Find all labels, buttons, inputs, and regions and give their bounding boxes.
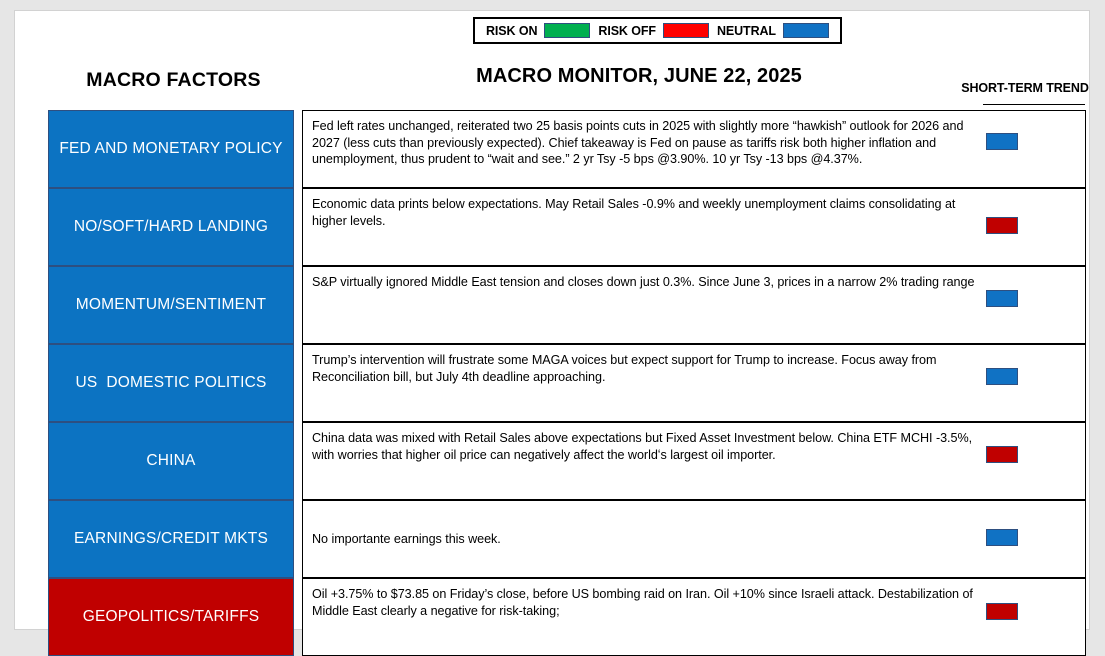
page-title: MACRO MONITOR, JUNE 22, 2025 — [303, 65, 975, 88]
factor-label-cell[interactable]: GEOPOLITICS/TARIFFS — [48, 578, 294, 656]
factor-label-cell[interactable]: CHINA — [48, 422, 294, 500]
macro-factors-heading: MACRO FACTORS — [51, 69, 296, 92]
short-term-trend-indicator[interactable] — [986, 446, 1018, 463]
factor-label-cell[interactable]: EARNINGS/CREDIT MKTS — [48, 500, 294, 578]
factor-label-cell[interactable]: FED AND MONETARY POLICY — [48, 110, 294, 188]
macro-factor-row: EARNINGS/CREDIT MKTSNo importante earnin… — [15, 500, 1089, 578]
risk-on-swatch — [544, 23, 590, 38]
factor-note-text: Oil +3.75% to $73.85 on Friday’s close, … — [312, 586, 984, 619]
short-term-trend-indicator[interactable] — [986, 529, 1018, 546]
factor-label-text: EARNINGS/CREDIT MKTS — [74, 530, 268, 548]
factor-note-text: Trump’s intervention will frustrate some… — [312, 352, 984, 385]
trend-heading-divider — [983, 104, 1085, 105]
factor-label-cell[interactable]: NO/SOFT/HARD LANDING — [48, 188, 294, 266]
factor-note-text: Economic data prints below expectations.… — [312, 196, 984, 229]
short-term-trend-heading: SHORT-TERM TREND — [945, 81, 1105, 95]
factor-label-text: GEOPOLITICS/TARIFFS — [83, 608, 260, 626]
factor-label-text: CHINA — [146, 452, 195, 470]
factor-note-cell: Economic data prints below expectations.… — [302, 188, 1086, 266]
short-term-trend-indicator[interactable] — [986, 368, 1018, 385]
factor-note-cell: Oil +3.75% to $73.85 on Friday’s close, … — [302, 578, 1086, 656]
legend-item-label: NEUTRAL — [717, 24, 776, 38]
macro-factor-row: MOMENTUM/SENTIMENTS&P virtually ignored … — [15, 266, 1089, 344]
macro-factor-row: US DOMESTIC POLITICSTrump’s intervention… — [15, 344, 1089, 422]
factor-label-cell[interactable]: US DOMESTIC POLITICS — [48, 344, 294, 422]
factor-note-cell: China data was mixed with Retail Sales a… — [302, 422, 1086, 500]
factor-label-text: NO/SOFT/HARD LANDING — [74, 218, 268, 236]
legend: RISK ONRISK OFFNEUTRAL — [473, 17, 842, 44]
legend-item-label: RISK ON — [486, 24, 537, 38]
factor-note-text: China data was mixed with Retail Sales a… — [312, 430, 984, 463]
risk-off-swatch — [663, 23, 709, 38]
macro-factor-row: NO/SOFT/HARD LANDINGEconomic data prints… — [15, 188, 1089, 266]
factor-label-text: MOMENTUM/SENTIMENT — [76, 296, 266, 314]
factor-note-cell: No importante earnings this week. — [302, 500, 1086, 578]
legend-item: NEUTRAL — [717, 23, 829, 38]
factor-note-text: No importante earnings this week. — [312, 531, 984, 548]
factor-label-text: FED AND MONETARY POLICY — [59, 140, 282, 158]
neutral-swatch — [783, 23, 829, 38]
short-term-trend-indicator[interactable] — [986, 603, 1018, 620]
legend-item-label: RISK OFF — [598, 24, 656, 38]
factor-note-cell: S&P virtually ignored Middle East tensio… — [302, 266, 1086, 344]
factor-label-cell[interactable]: MOMENTUM/SENTIMENT — [48, 266, 294, 344]
macro-factor-row: FED AND MONETARY POLICYFed left rates un… — [15, 110, 1089, 188]
legend-item: RISK ON — [486, 23, 590, 38]
macro-monitor-page: RISK ONRISK OFFNEUTRAL MACRO FACTORS MAC… — [14, 10, 1090, 630]
short-term-trend-indicator[interactable] — [986, 290, 1018, 307]
factor-note-text: S&P virtually ignored Middle East tensio… — [312, 274, 984, 291]
short-term-trend-indicator[interactable] — [986, 133, 1018, 150]
legend-item: RISK OFF — [598, 23, 709, 38]
macro-factor-row: CHINAChina data was mixed with Retail Sa… — [15, 422, 1089, 500]
factor-label-text: US DOMESTIC POLITICS — [75, 374, 266, 392]
factor-note-cell: Fed left rates unchanged, reiterated two… — [302, 110, 1086, 188]
factor-note-text: Fed left rates unchanged, reiterated two… — [312, 118, 984, 168]
factor-note-cell: Trump’s intervention will frustrate some… — [302, 344, 1086, 422]
short-term-trend-indicator[interactable] — [986, 217, 1018, 234]
macro-factor-row: GEOPOLITICS/TARIFFSOil +3.75% to $73.85 … — [15, 578, 1089, 656]
